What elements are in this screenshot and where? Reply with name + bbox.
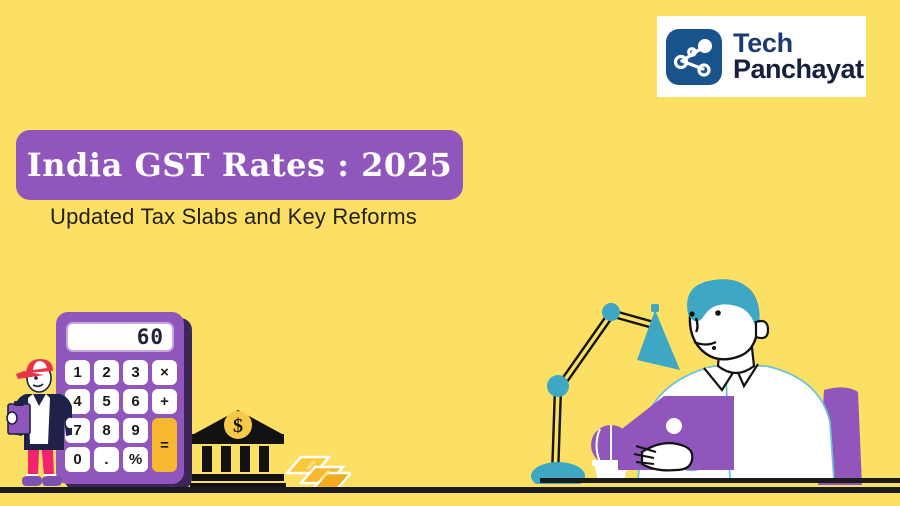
calc-key-equals[interactable]: = bbox=[152, 418, 177, 472]
calc-key-percent[interactable]: % bbox=[123, 447, 148, 472]
calc-key-9[interactable]: 9 bbox=[123, 418, 148, 443]
poster-canvas: Tech Panchayat India GST Rates : 2025 Up… bbox=[0, 0, 900, 506]
page-subtitle: Updated Tax Slabs and Key Reforms bbox=[50, 204, 417, 230]
brand-name: Tech Panchayat bbox=[733, 31, 864, 83]
desk-surface-line bbox=[540, 478, 900, 483]
calc-key-6[interactable]: 6 bbox=[123, 389, 148, 414]
calculator-display: 60 bbox=[66, 322, 174, 352]
network-share-icon bbox=[665, 28, 723, 86]
calculator-keypad: 1 2 3 × 4 5 6 + 7 8 9 = 0 . % bbox=[65, 360, 175, 472]
brand-name-line1: Tech bbox=[733, 31, 864, 57]
brand-name-line2: Panchayat bbox=[733, 57, 864, 83]
calculator-display-value: 60 bbox=[137, 325, 164, 349]
ground-line bbox=[0, 487, 900, 493]
analyst-with-clipboard bbox=[6, 358, 72, 490]
calc-key-2[interactable]: 2 bbox=[94, 360, 119, 385]
calc-key-decimal[interactable]: . bbox=[94, 447, 119, 472]
title-banner: India GST Rates : 2025 bbox=[16, 130, 463, 200]
calc-key-3[interactable]: 3 bbox=[123, 360, 148, 385]
svg-text:$: $ bbox=[233, 415, 243, 437]
gold-bars-icon bbox=[285, 443, 351, 493]
page-title: India GST Rates : 2025 bbox=[27, 146, 452, 184]
calc-key-5[interactable]: 5 bbox=[94, 389, 119, 414]
calculator-body: 60 1 2 3 × 4 5 6 + 7 8 9 = 0 . % bbox=[56, 312, 184, 484]
brand-logo[interactable]: Tech Panchayat bbox=[657, 16, 866, 97]
calc-key-plus[interactable]: + bbox=[152, 389, 177, 414]
bank-building-icon: $ bbox=[190, 408, 286, 490]
calculator-illustration: 60 1 2 3 × 4 5 6 + 7 8 9 = 0 . % bbox=[56, 312, 192, 490]
man-at-laptop bbox=[618, 270, 900, 485]
calc-key-8[interactable]: 8 bbox=[94, 418, 119, 443]
calc-key-multiply[interactable]: × bbox=[152, 360, 177, 385]
